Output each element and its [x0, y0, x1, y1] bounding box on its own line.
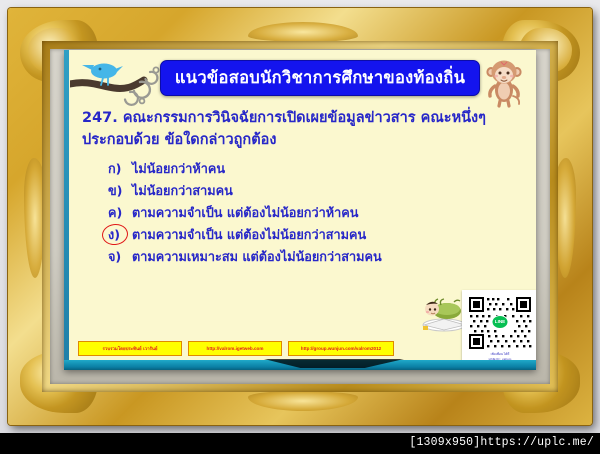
option-row-selected[interactable]: ง) ตามความจำเป็น แต่ต้องไม่น้อยกว่าสามคน — [108, 224, 528, 246]
option-key: ก) — [108, 163, 132, 176]
option-key: ข) — [108, 185, 132, 198]
option-text: ตามความจำเป็น แต่ต้องไม่น้อยกว่าห้าคน — [132, 207, 358, 220]
footer-badges: รวบรวมโดยประทินย์ เวารันย์ http://valrom… — [78, 341, 394, 356]
line-logo-icon: LINE — [492, 315, 509, 329]
title-banner: แนวข้อสอบนักวิชาการศึกษาของท้องถิ่น — [160, 60, 480, 96]
screenshot-root: แนวข้อสอบนักวิชาการศึกษาของท้องถิ่น — [0, 0, 600, 454]
option-text: ไม่น้อยกว่าสามคน — [132, 185, 233, 198]
question-text: 247. คณะกรรมการวินิจฉัยการเปิดเผยข้อมูลข… — [82, 108, 522, 152]
banner-title-text: แนวข้อสอบนักวิชาการศึกษาของท้องถิ่น — [175, 70, 465, 87]
option-key: ค) — [108, 207, 132, 220]
option-row[interactable]: ค) ตามความจำเป็น แต่ต้องไม่น้อยกว่าห้าคน — [108, 202, 528, 224]
line-logo-label: LINE — [495, 319, 505, 324]
group-link-badge[interactable]: http://group.wunjun.com/valrom2012 — [288, 341, 394, 356]
option-text: ตามความเหมาะสม แต่ต้องไม่น้อยกว่าสามคน — [132, 251, 382, 264]
option-row[interactable]: จ) ตามความเหมาะสม แต่ต้องไม่น้อยกว่าสามค… — [108, 246, 528, 268]
watermark-text: [1309x950]https://uplc.me/ — [409, 436, 594, 449]
qr-code-icon: LINE — [466, 294, 534, 352]
credit-badge[interactable]: รวบรวมโดยประทินย์ เวารันย์ — [78, 341, 182, 356]
bird-icon — [70, 54, 170, 108]
frame-ornament-bottom-edge — [248, 391, 358, 411]
monkey-mascot-icon — [480, 56, 528, 108]
qr-code-card[interactable]: LINE เพิ่มเพื่อน ได้ที่ LINE ID : valrom — [462, 290, 536, 364]
slide-header: แนวข้อสอบนักวิชาการศึกษาของท้องถิ่น — [64, 54, 536, 108]
option-row[interactable]: ก) ไม่น้อยกว่าห้าคน — [108, 158, 528, 180]
option-text: ตามความจำเป็น แต่ต้องไม่น้อยกว่าสามคน — [132, 229, 366, 242]
option-row[interactable]: ข) ไม่น้อยกว่าสามคน — [108, 180, 528, 202]
website-link-badge[interactable]: http://valrom.igetweb.com — [188, 341, 282, 356]
watermark-bar: [1309x950]https://uplc.me/ — [0, 433, 600, 454]
option-key: จ) — [108, 251, 132, 264]
frame-ornament-top-edge — [248, 22, 358, 42]
options-list: ก) ไม่น้อยกว่าห้าคน ข) ไม่น้อยกว่าสามคน … — [108, 158, 528, 268]
option-key: ง) — [108, 229, 132, 242]
option-text: ไม่น้อยกว่าห้าคน — [132, 163, 225, 176]
exam-slide-panel: แนวข้อสอบนักวิชาการศึกษาของท้องถิ่น — [64, 50, 536, 370]
